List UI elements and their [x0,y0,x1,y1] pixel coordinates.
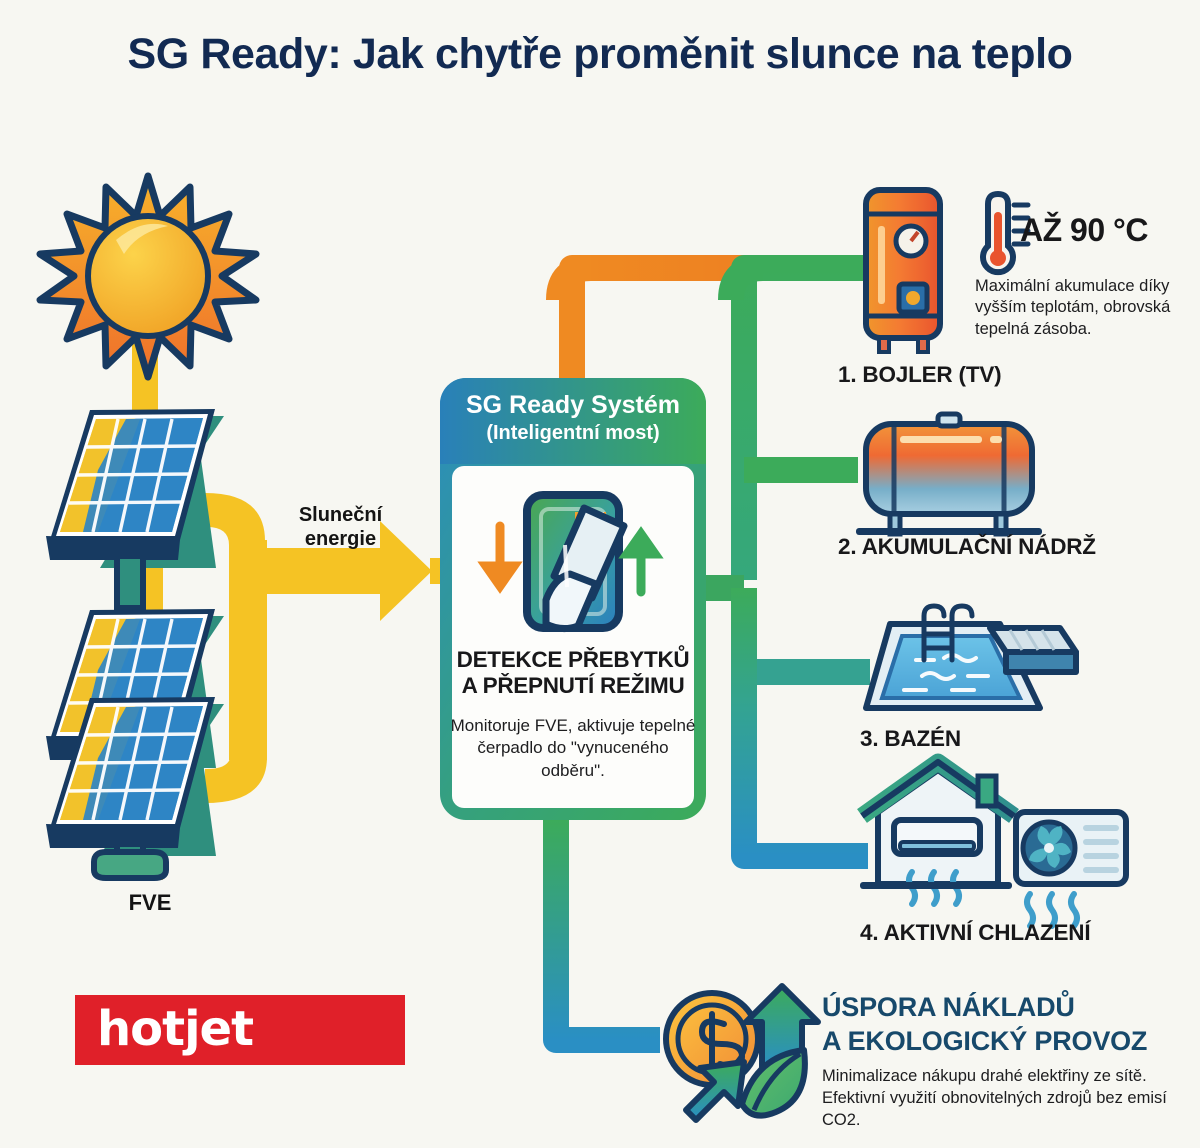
footer-title-line1: ÚSPORA NÁKLADŮ [822,992,1075,1023]
water-heater-icon [866,190,940,352]
card-subtitle: (Inteligentní most) [448,422,698,445]
output-label-boiler: 1. BOJLER (TV) [838,362,1001,388]
hotjet-logo[interactable]: hotjet [75,995,405,1065]
infographic-canvas: SG Ready: Jak chytře proměnit slunce na … [0,0,1200,1148]
card-body-text: Monitoruje FVE, aktivuje tepelné čerpadl… [450,715,696,782]
house-ac-icon [860,762,1126,926]
temperature-badge: AŽ 90 °C [1020,212,1148,249]
swimming-pool-icon [866,606,1076,708]
solar-panel-top-icon [46,409,224,608]
page-title: SG Ready: Jak chytře proměnit slunce na … [0,30,1200,79]
fve-label: FVE [90,890,210,916]
solar-energy-flow-label: Sluneční energie [283,503,398,551]
footer-body-text: Minimalizace nákupu drahé elektřiny ze s… [822,1066,1200,1131]
output-label-pool: 3. BAZÉN [860,726,961,752]
artwork-layer [0,0,1200,1148]
card-title: SG Ready Systém [448,392,698,419]
card-heading-line1: DETEKCE PŘEBYTKŮ [457,647,690,672]
boiler-description: Maximální akumulace díky vyšším teplotám… [975,276,1200,340]
output-label-buffer-tank: 2. AKUMULAČNÍ NÁDRŽ [838,534,1096,560]
hotjet-logo-wordmark: hotjet [97,1001,253,1057]
card-heading: DETEKCE PŘEBYTKŮ A PŘEPNUTÍ REŽIMU [440,647,706,698]
coin-growth-leaf-icon [666,986,818,1120]
footer-title-line2: A EKOLOGICKÝ PROVOZ [822,1026,1147,1057]
card-heading-line2: A PŘEPNUTÍ REŽIMU [462,673,685,698]
solar-energy-label-line1: Sluneční [299,504,382,526]
output-label-cooling: 4. AKTIVNÍ CHLAZENÍ [860,920,1090,946]
solar-energy-label-line2: energie [305,528,376,550]
buffer-tank-icon [856,414,1042,535]
sun-icon [40,176,256,377]
